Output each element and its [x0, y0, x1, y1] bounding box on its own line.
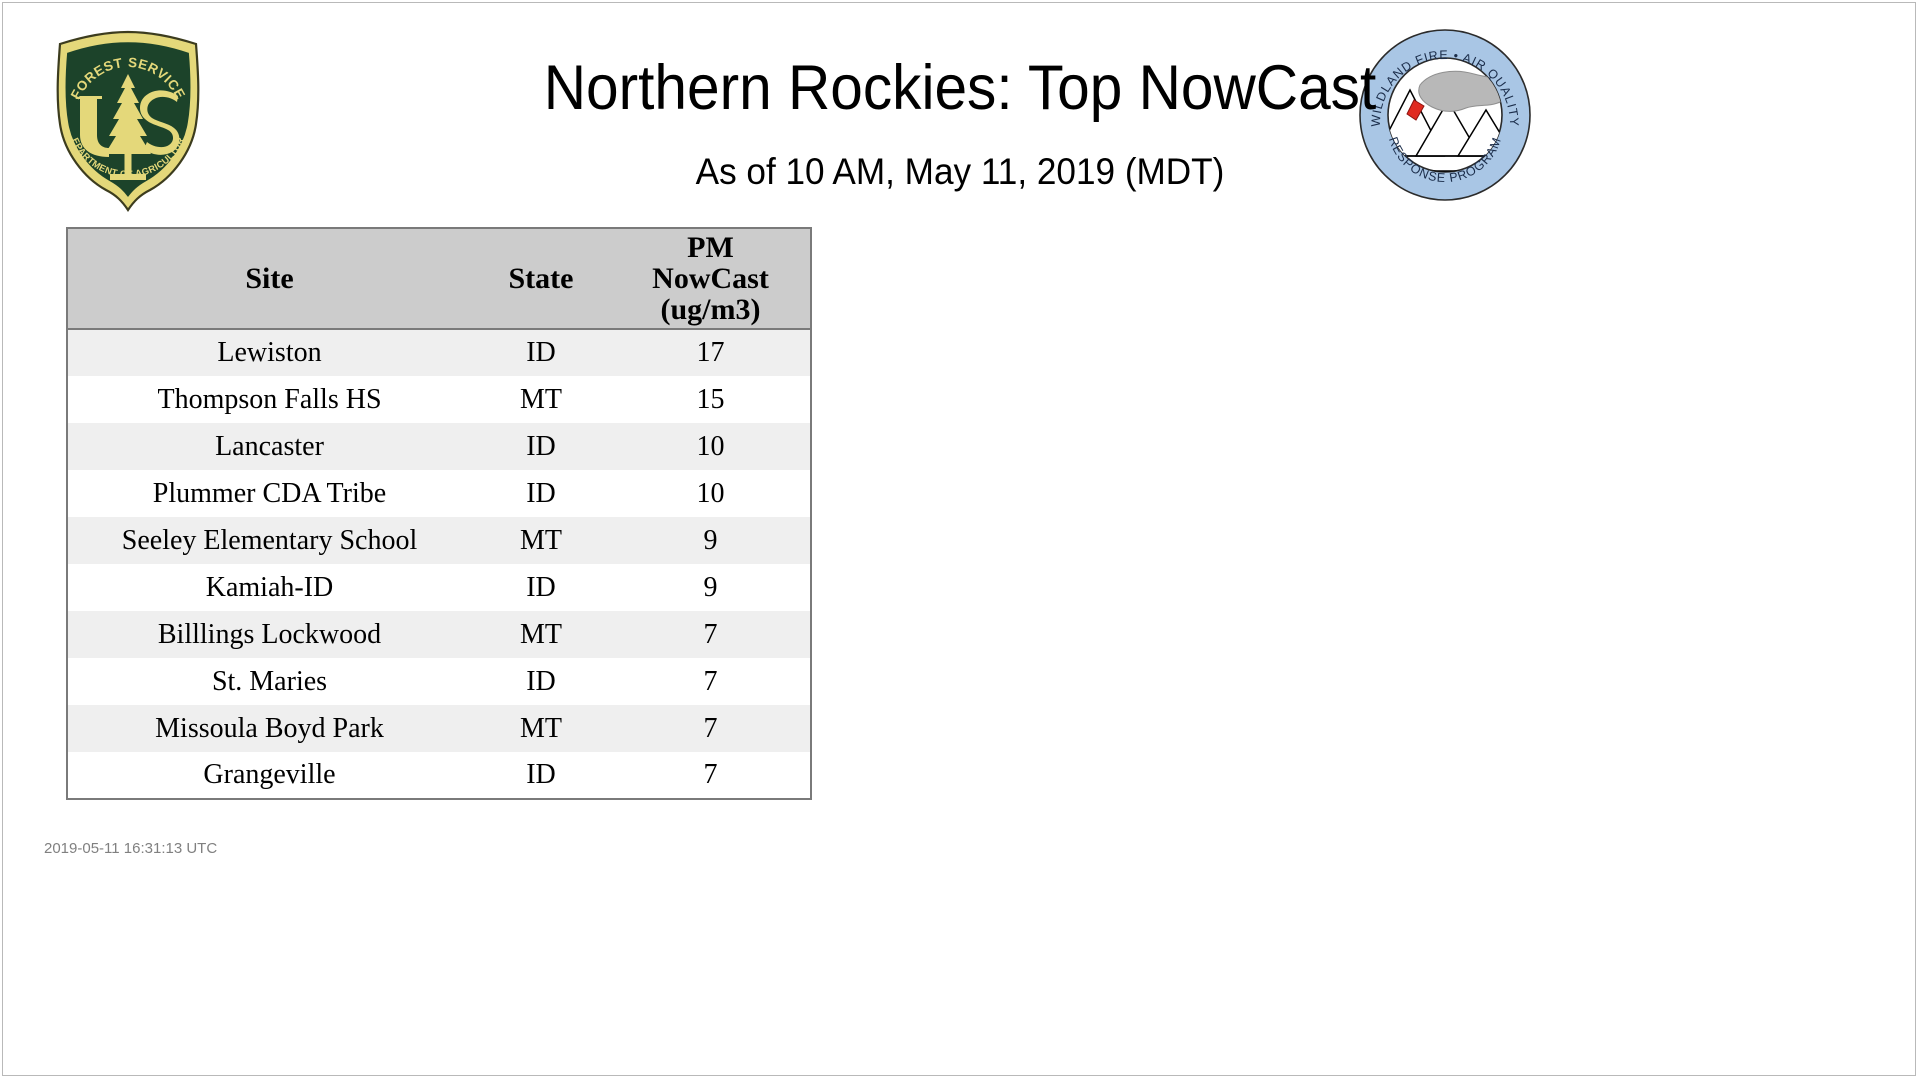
table-row: LancasterID10 — [67, 423, 811, 470]
cell-state: ID — [471, 752, 611, 799]
column-header-site: Site — [67, 228, 471, 329]
cell-pm-nowcast: 7 — [611, 752, 811, 799]
cell-site: Lewiston — [67, 329, 471, 376]
table-row: Plummer CDA TribeID10 — [67, 470, 811, 517]
table-row: Kamiah-IDID9 — [67, 564, 811, 611]
nowcast-table: Site State PM NowCast (ug/m3) LewistonID… — [66, 227, 812, 800]
cell-state: ID — [471, 470, 611, 517]
cell-site: Plummer CDA Tribe — [67, 470, 471, 517]
cell-pm-nowcast: 17 — [611, 329, 811, 376]
cell-state: MT — [471, 705, 611, 752]
cell-site: Seeley Elementary School — [67, 517, 471, 564]
footer-timestamp: 2019-05-11 16:31:13 UTC — [44, 840, 217, 858]
cell-state: MT — [471, 376, 611, 423]
cell-state: ID — [471, 564, 611, 611]
page-subtitle: As of 10 AM, May 11, 2019 (MDT) — [48, 150, 1872, 194]
table-row: Billlings LockwoodMT7 — [67, 611, 811, 658]
nowcast-table-container: Site State PM NowCast (ug/m3) LewistonID… — [66, 227, 810, 800]
cell-pm-nowcast: 7 — [611, 611, 811, 658]
cell-state: ID — [471, 658, 611, 705]
column-header-pm-nowcast: PM NowCast (ug/m3) — [611, 228, 811, 329]
cell-pm-nowcast: 15 — [611, 376, 811, 423]
cell-state: ID — [471, 329, 611, 376]
cell-site: Thompson Falls HS — [67, 376, 471, 423]
column-header-state-label: State — [509, 262, 574, 295]
table-header-row: Site State PM NowCast (ug/m3) — [67, 228, 811, 329]
cell-pm-nowcast: 7 — [611, 705, 811, 752]
table-row: Thompson Falls HSMT15 — [67, 376, 811, 423]
cell-site: Kamiah-ID — [67, 564, 471, 611]
cell-site: Grangeville — [67, 752, 471, 799]
column-header-state: State — [471, 228, 611, 329]
page-title: Northern Rockies: Top NowCast — [67, 52, 1853, 124]
table-row: Seeley Elementary SchoolMT9 — [67, 517, 811, 564]
cell-state: MT — [471, 611, 611, 658]
cell-site: Lancaster — [67, 423, 471, 470]
cell-pm-nowcast: 9 — [611, 517, 811, 564]
cell-pm-nowcast: 10 — [611, 470, 811, 517]
cell-site: Missoula Boyd Park — [67, 705, 471, 752]
cell-pm-nowcast: 7 — [611, 658, 811, 705]
column-header-pm-nowcast-label: PM NowCast (ug/m3) — [615, 232, 806, 325]
column-header-site-label: Site — [245, 262, 293, 295]
table-body: LewistonID17Thompson Falls HSMT15Lancast… — [67, 329, 811, 799]
cell-state: ID — [471, 423, 611, 470]
table-header: Site State PM NowCast (ug/m3) — [67, 228, 811, 329]
cell-site: St. Maries — [67, 658, 471, 705]
cell-site: Billlings Lockwood — [67, 611, 471, 658]
table-row: GrangevilleID7 — [67, 752, 811, 799]
table-row: LewistonID17 — [67, 329, 811, 376]
table-row: Missoula Boyd ParkMT7 — [67, 705, 811, 752]
cell-state: MT — [471, 517, 611, 564]
table-row: St. MariesID7 — [67, 658, 811, 705]
cell-pm-nowcast: 9 — [611, 564, 811, 611]
cell-pm-nowcast: 10 — [611, 423, 811, 470]
slide-page: FOREST SERVICE DEPARTMENT OF AGRICULTURE — [0, 0, 1920, 1080]
